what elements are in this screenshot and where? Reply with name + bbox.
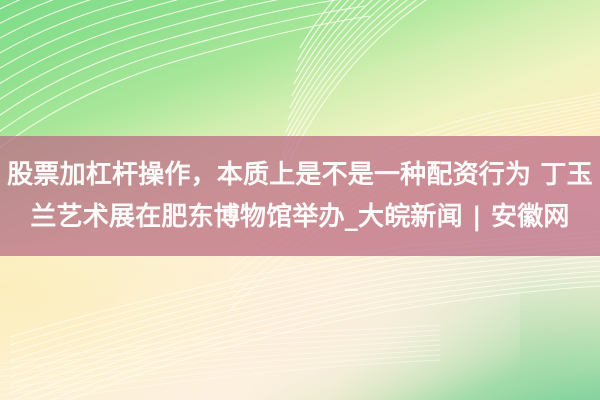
headline-text-block: 股票加杠杆操作，本质上是不是一种配资行为 丁玉 兰艺术展在肥东博物馆举办_大皖新… xyxy=(0,136,600,256)
banner-image: 股票加杠杆操作，本质上是不是一种配资行为 丁玉 兰艺术展在肥东博物馆举办_大皖新… xyxy=(0,0,600,400)
decorative-line-field-bottom-left xyxy=(0,300,440,400)
headline-line-2: 兰艺术展在肥东博物馆举办_大皖新闻 | 安徽网 xyxy=(30,197,569,237)
headline-line-1: 股票加杠杆操作，本质上是不是一种配资行为 丁玉 xyxy=(7,155,593,195)
